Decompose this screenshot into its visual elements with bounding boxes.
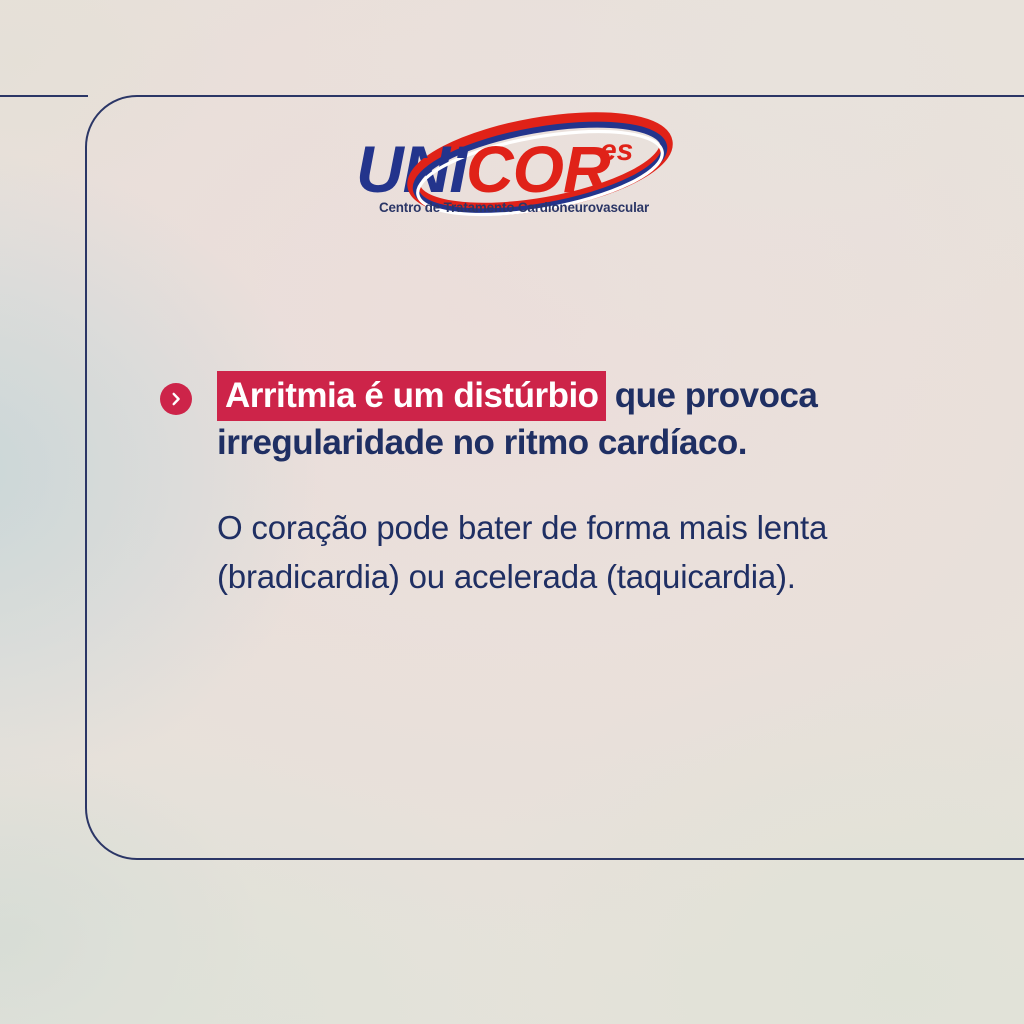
logo-tagline: Centro de Tratamento Cardioneurovascular	[344, 200, 684, 215]
slide-canvas: UNI COR es Centro de Tratamento Cardione…	[0, 0, 1024, 1024]
frame-top-tail-line	[0, 95, 88, 97]
headline-row: Arritmia é um distúrbio que provoca irre…	[160, 372, 920, 466]
logo-es-superscript: es	[600, 134, 633, 167]
content-block: Arritmia é um distúrbio que provoca irre…	[160, 372, 920, 601]
page-title: Arritmia é um distúrbio que provoca irre…	[160, 372, 920, 466]
headline-highlight: Arritmia é um distúrbio	[217, 371, 606, 421]
body-paragraph: O coração pode bater de forma mais lenta…	[160, 503, 917, 601]
chevron-right-circle-icon	[160, 383, 192, 415]
